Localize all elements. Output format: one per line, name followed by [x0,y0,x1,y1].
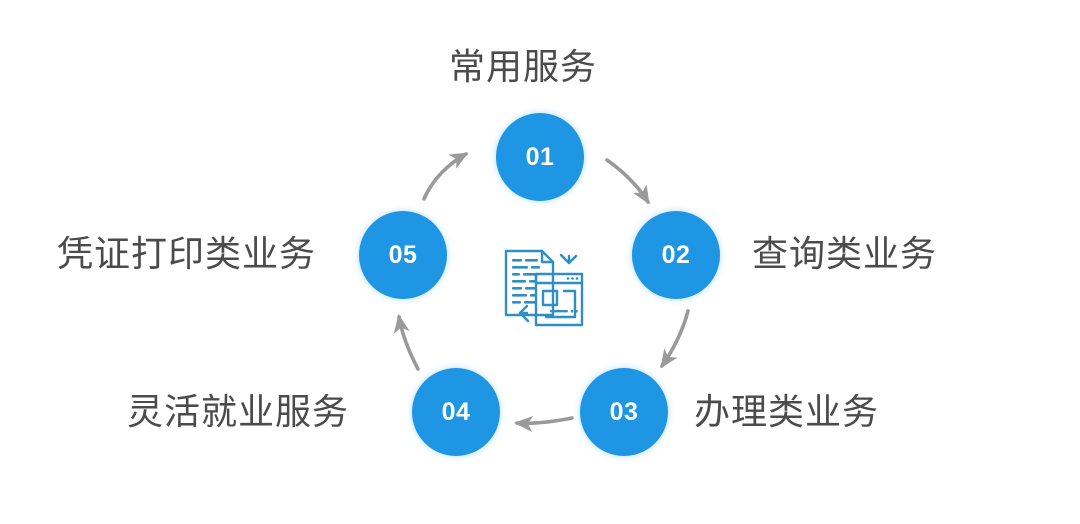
arrow-03-to-04 [517,418,572,423]
node-04[interactable]: 04 [412,368,500,456]
node-04-caption: 灵活就业服务 [127,394,349,430]
node-01[interactable]: 01 [496,113,584,201]
cycle-diagram: 01 常用服务 02 查询类业务 03 办理类业务 04 灵活就业服务 05 凭… [0,0,1080,524]
arrow-02-to-03 [662,311,688,366]
document-transfer-icon [498,245,590,331]
node-01-number: 01 [526,145,555,170]
node-02[interactable]: 02 [632,211,720,299]
arrow-05-to-01 [424,154,466,199]
arrow-01-to-02 [607,160,648,202]
node-04-number: 04 [442,400,471,425]
node-01-caption: 常用服务 [449,49,597,85]
node-03-caption: 办理类业务 [694,394,879,430]
node-03[interactable]: 03 [580,368,668,456]
node-02-caption: 查询类业务 [752,236,937,272]
node-02-number: 02 [662,243,691,268]
node-05-caption: 凭证打印类业务 [57,236,316,272]
node-03-number: 03 [610,400,639,425]
node-05-number: 05 [389,243,418,268]
arrow-04-to-05 [399,317,418,369]
node-05[interactable]: 05 [359,211,447,299]
